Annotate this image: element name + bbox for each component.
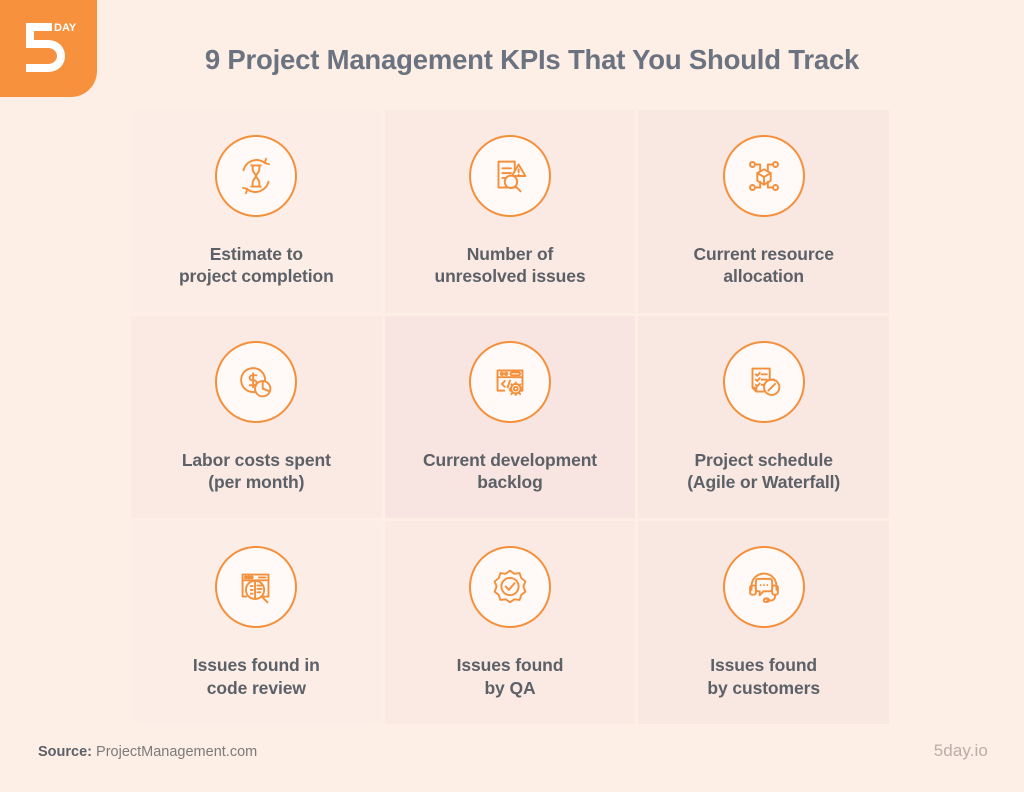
code-review-search-icon [215, 546, 297, 628]
checklist-stopwatch-icon [723, 341, 805, 423]
quality-badge-check-icon [469, 546, 551, 628]
cube-network-icon [723, 135, 805, 217]
svg-text:DAY: DAY [54, 22, 77, 34]
footer-brand: 5day.io [934, 741, 988, 761]
kpi-cell-current-resource-allocation[interactable]: Current resource allocation [638, 110, 889, 313]
kpi-cell-issues-found-in-code-review[interactable]: Issues found in code review [131, 521, 382, 724]
kpi-cell-labor-costs-spent[interactable]: Labor costs spent (per month) [131, 316, 382, 519]
kpi-label: Project schedule (Agile or Waterfall) [687, 449, 840, 494]
kpi-label: Labor costs spent (per month) [182, 449, 331, 494]
document-warning-search-icon [469, 135, 551, 217]
kpi-label: Current development backlog [423, 449, 597, 494]
page-title: 9 Project Management KPIs That You Shoul… [0, 44, 1024, 76]
kpi-cell-number-of-unresolved-issues[interactable]: Number of unresolved issues [385, 110, 636, 313]
source-attribution: Source: ProjectManagement.com [38, 744, 257, 760]
kpi-label: Current resource allocation [693, 243, 833, 288]
code-window-gear-icon [469, 341, 551, 423]
kpi-cell-project-schedule[interactable]: Project schedule (Agile or Waterfall) [638, 316, 889, 519]
kpi-label: Issues found by customers [707, 654, 820, 699]
kpi-label: Issues found by QA [457, 654, 564, 699]
kpi-label: Number of unresolved issues [434, 243, 585, 288]
kpi-label: Estimate to project completion [179, 243, 334, 288]
kpi-cell-current-development-backlog[interactable]: Current development backlog [385, 316, 636, 519]
source-value: ProjectManagement.com [96, 744, 257, 760]
kpi-cell-estimate-to-project-completion[interactable]: Estimate to project completion [131, 110, 382, 313]
dollar-pie-chart-icon [215, 341, 297, 423]
headset-chat-icon [723, 546, 805, 628]
kpi-cell-issues-found-by-customers[interactable]: Issues found by customers [638, 521, 889, 724]
hourglass-refresh-icon [215, 135, 297, 217]
kpi-cell-issues-found-by-qa[interactable]: Issues found by QA [385, 521, 636, 724]
kpi-label: Issues found in code review [193, 654, 320, 699]
kpi-grid: Estimate to project completion Number of… [131, 110, 889, 724]
source-label: Source: [38, 744, 92, 760]
